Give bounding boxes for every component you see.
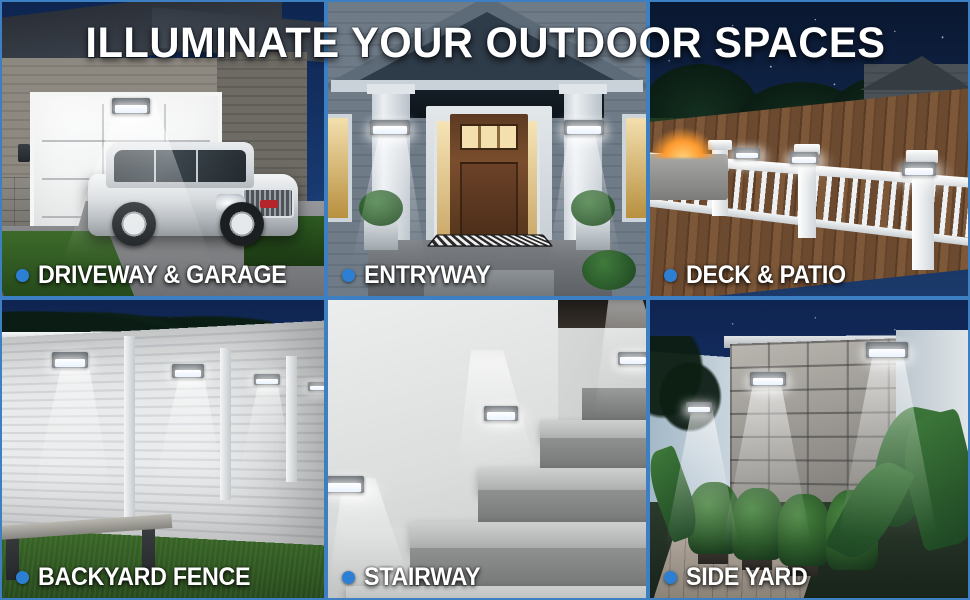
led-light-fixture-3	[254, 374, 280, 385]
led-light-fixture	[112, 98, 150, 114]
blue-dot-icon	[342, 571, 355, 584]
window-left	[326, 114, 352, 222]
blue-dot-icon	[16, 269, 29, 282]
led-step-light-1	[326, 476, 364, 493]
caption-label: SIDE YARD	[686, 565, 808, 590]
neighbor-house-roof	[860, 56, 970, 90]
suv-vehicle	[88, 140, 298, 246]
fence-post-2	[220, 348, 231, 500]
product-lifestyle-banner: DRIVEWAY & GARAGE	[0, 0, 970, 600]
railing-post-2	[798, 152, 816, 238]
blue-dot-icon	[342, 269, 355, 282]
panel-driveway-garage: DRIVEWAY & GARAGE	[0, 0, 326, 298]
caption-label: STAIRWAY	[364, 565, 480, 590]
led-light-fixture-1	[52, 352, 88, 368]
suv-window-pillar-2	[196, 150, 198, 182]
fire-pit-flame	[650, 128, 716, 158]
led-post-light-2	[790, 152, 818, 164]
caption-label: DRIVEWAY & GARAGE	[38, 263, 286, 288]
porch-gable-shadow	[341, 12, 633, 90]
panel-caption-side-yard: SIDE YARD	[664, 565, 817, 590]
led-step-light-3	[618, 352, 648, 365]
suv-wheel-front	[220, 202, 264, 246]
caption-label: ENTRYWAY	[364, 263, 491, 288]
led-wall-light-2	[866, 342, 908, 358]
wall-lantern-left	[18, 144, 30, 162]
led-light-fixture-4	[308, 382, 326, 391]
panel-caption-deck: DECK & PATIO	[664, 263, 858, 288]
led-post-light-3	[902, 162, 936, 176]
railing-post-3	[912, 160, 934, 270]
hedge-shrub-2	[732, 488, 784, 560]
caption-label: BACKYARD FENCE	[38, 565, 250, 590]
fire-pit	[648, 154, 728, 200]
shrub-right	[571, 190, 615, 226]
suv-windows	[114, 150, 246, 182]
led-light-fixture-left	[370, 120, 410, 135]
panel-caption-stairway: STAIRWAY	[342, 565, 489, 590]
panel-caption-driveway: DRIVEWAY & GARAGE	[16, 263, 305, 288]
panel-caption-fence: BACKYARD FENCE	[16, 565, 266, 590]
fence-post-3	[286, 356, 297, 482]
tree-foliage	[648, 336, 726, 446]
column-cap-left	[367, 84, 415, 94]
suv-emblem	[260, 200, 278, 208]
caption-label: DECK & PATIO	[686, 263, 846, 288]
led-wall-light-3	[686, 402, 712, 413]
panel-caption-entryway: ENTRYWAY	[342, 263, 500, 288]
panel-deck-patio: DECK & PATIO	[648, 0, 970, 298]
suv-wheel-rear	[112, 202, 156, 246]
panel-entryway: ENTRYWAY	[326, 0, 648, 298]
led-light-fixture-right	[564, 120, 604, 135]
blue-dot-icon	[16, 571, 29, 584]
blue-dot-icon	[664, 571, 677, 584]
hedge-shrub-3	[778, 494, 830, 566]
led-wall-light-1	[750, 372, 786, 386]
led-step-light-2	[484, 406, 518, 421]
fence-post-1	[124, 336, 135, 518]
doormat	[426, 234, 553, 246]
window-right	[622, 114, 648, 222]
panel-stairway: STAIRWAY	[326, 298, 648, 600]
door-glass-lites	[460, 124, 518, 150]
scene-grid: DRIVEWAY & GARAGE	[0, 0, 970, 600]
panel-side-yard: SIDE YARD	[648, 298, 970, 600]
blue-dot-icon	[664, 269, 677, 282]
column-cap-right	[559, 84, 607, 94]
shrub-left	[359, 190, 403, 226]
panel-backyard-fence: BACKYARD FENCE	[0, 298, 326, 600]
suv-window-pillar	[154, 150, 156, 182]
door-panel	[460, 162, 518, 242]
led-post-light-1	[734, 148, 760, 159]
led-light-fixture-2	[172, 364, 204, 378]
shrub-foreground	[582, 250, 636, 290]
